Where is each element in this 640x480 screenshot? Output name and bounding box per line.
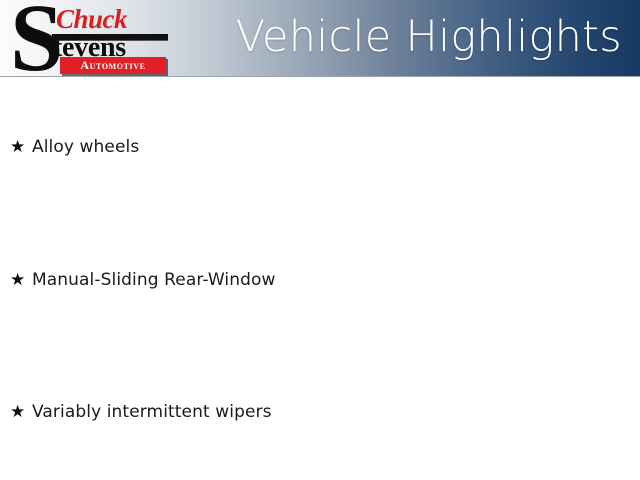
dealer-logo[interactable]: S Chuck tevens Automotive xyxy=(8,2,173,76)
highlight-label: Variably intermittent wipers xyxy=(32,399,272,425)
list-item: ★ Alloy wheels xyxy=(10,134,139,160)
vehicle-highlights-page: S Chuck tevens Automotive Vehicle Highli… xyxy=(0,0,640,480)
logo-tagline-text: Automotive xyxy=(60,57,166,74)
highlight-label: Manual-Sliding Rear-Window xyxy=(32,267,276,293)
list-item: ★ Manual-Sliding Rear-Window xyxy=(10,267,276,293)
page-header: S Chuck tevens Automotive Vehicle Highli… xyxy=(0,0,640,77)
star-bullet-icon: ★ xyxy=(10,134,32,160)
page-title: Vehicle Highlights xyxy=(236,7,622,67)
highlights-list: ★ Alloy wheels ★ Manual-Sliding Rear-Win… xyxy=(0,77,640,480)
star-bullet-icon: ★ xyxy=(10,399,32,425)
highlight-label: Alloy wheels xyxy=(32,134,139,160)
logo-tagline-banner: Automotive xyxy=(60,57,166,74)
star-bullet-icon: ★ xyxy=(10,267,32,293)
logo-first-name: Chuck xyxy=(56,5,127,34)
list-item: ★ Variably intermittent wipers xyxy=(10,399,272,425)
